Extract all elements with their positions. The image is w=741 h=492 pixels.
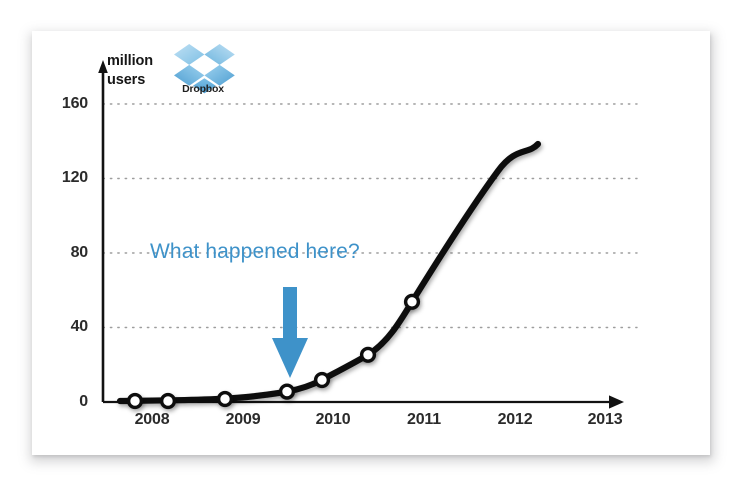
gridlines	[103, 104, 637, 328]
data-series-dropbox-users	[120, 144, 538, 401]
x-tick-2011: 2011	[389, 411, 459, 429]
x-tick-2009: 2009	[208, 411, 278, 429]
y-tick-120: 120	[42, 169, 88, 187]
data-point	[406, 295, 419, 308]
y-tick-80: 80	[42, 244, 88, 262]
y-axis-title-line2: users	[107, 71, 153, 90]
data-point	[219, 393, 232, 406]
y-axis-title: million users	[107, 52, 153, 90]
annotation-label: What happened here?	[150, 240, 360, 264]
brand-name-label: Dropbox	[172, 83, 234, 95]
y-tick-0: 0	[42, 393, 88, 411]
y-axis	[98, 60, 108, 402]
data-point	[129, 395, 142, 408]
y-axis-title-line1: million	[107, 52, 153, 71]
down-arrow-icon	[272, 287, 308, 378]
data-point-markers	[129, 295, 419, 407]
x-tick-2010: 2010	[298, 411, 368, 429]
data-point	[162, 395, 175, 408]
data-point	[316, 374, 329, 387]
x-tick-2008: 2008	[117, 411, 187, 429]
x-tick-2013: 2013	[570, 411, 640, 429]
data-point	[281, 385, 294, 398]
y-tick-160: 160	[42, 95, 88, 113]
y-tick-40: 40	[42, 318, 88, 336]
data-point	[362, 348, 375, 361]
screenshot-canvas: million users Dropbox What happened here…	[0, 0, 741, 492]
x-tick-2012: 2012	[480, 411, 550, 429]
